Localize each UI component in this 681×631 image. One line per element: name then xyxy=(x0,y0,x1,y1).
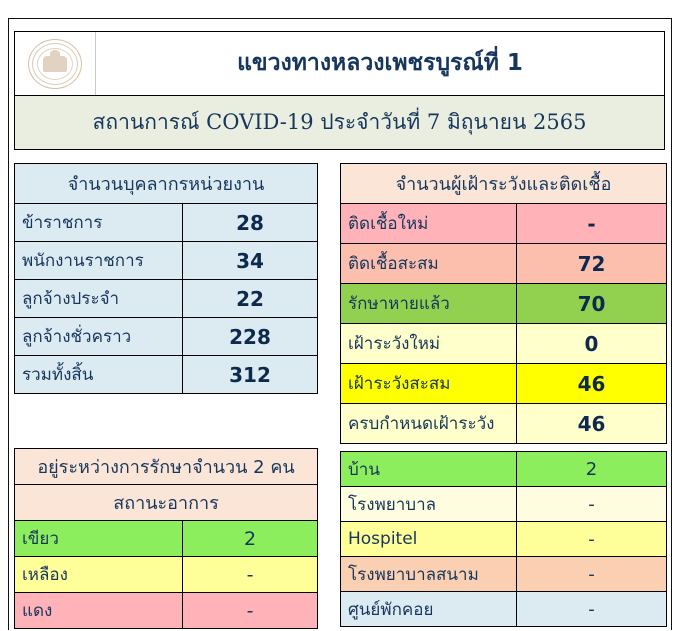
row-value: - xyxy=(183,557,318,593)
row-value: - xyxy=(517,522,667,557)
row-label: แดง xyxy=(15,593,183,629)
row-label: ลูกจ้างชั่วคราว xyxy=(15,318,183,356)
title-row: แขวงทางหลวงเพชรบูรณ์ที่ 1 xyxy=(15,32,664,96)
report-subtitle: สถานการณ์ COVID-19 ประจำวันที่ 7 มิถุนาย… xyxy=(15,96,664,149)
table-row: ติดเชื้อใหม่ - xyxy=(341,204,667,244)
page-title: แขวงทางหลวงเพชรบูรณ์ที่ 1 xyxy=(96,32,664,95)
cases-table-header: จำนวนผู้เฝ้าระวังและติดเชื้อ xyxy=(341,164,667,204)
row-value: 2 xyxy=(517,452,667,487)
row-value: 72 xyxy=(517,244,667,284)
table-row-total: รวมทั้งสิ้น 312 xyxy=(15,356,318,394)
table-row: เหลือง - xyxy=(15,557,318,593)
row-value: - xyxy=(517,592,667,627)
table-row: โรงพยาบาล - xyxy=(341,487,667,522)
table-header-row: จำนวนบุคลากรหน่วยงาน xyxy=(15,164,318,204)
row-label: เฝ้าระวังใหม่ xyxy=(341,324,517,364)
staff-count-table: จำนวนบุคลากรหน่วยงาน ข้าราชการ 28 พนักงา… xyxy=(14,163,318,394)
row-label: รักษาหายแล้ว xyxy=(341,284,517,324)
row-value: 34 xyxy=(183,242,318,280)
row-label: ลูกจ้างประจำ xyxy=(15,280,183,318)
row-value: 22 xyxy=(183,280,318,318)
surveillance-and-infection-table: จำนวนผู้เฝ้าระวังและติดเชื้อ ติดเชื้อใหม… xyxy=(340,163,667,444)
report-header: แขวงทางหลวงเพชรบูรณ์ที่ 1 สถานการณ์ COVI… xyxy=(14,31,665,150)
row-label: เหลือง xyxy=(15,557,183,593)
treating-table-subheader: สถานะอาการ xyxy=(15,485,318,521)
table-row: เขียว 2 xyxy=(15,521,318,557)
table-row: ข้าราชการ 28 xyxy=(15,204,318,242)
table-row: แดง - xyxy=(15,593,318,629)
row-value: 312 xyxy=(183,356,318,394)
row-value: 228 xyxy=(183,318,318,356)
row-value: - xyxy=(517,487,667,522)
row-label: โรงพยาบาล xyxy=(341,487,517,522)
row-label: ข้าราชการ xyxy=(15,204,183,242)
row-value: 0 xyxy=(517,324,667,364)
row-value: - xyxy=(517,557,667,592)
table-row: ติดเชื้อสะสม 72 xyxy=(341,244,667,284)
row-value: 70 xyxy=(517,284,667,324)
row-label: ติดเชื้อใหม่ xyxy=(341,204,517,244)
treating-table-header: อยู่ระหว่างการรักษาจำนวน 2 คน xyxy=(15,449,318,485)
row-value: - xyxy=(517,204,667,244)
table-row: บ้าน 2 xyxy=(341,452,667,487)
logo-cell xyxy=(15,32,96,95)
table-row: พนักงานราชการ 34 xyxy=(15,242,318,280)
table-row: รักษาหายแล้ว 70 xyxy=(341,284,667,324)
row-label: เฝ้าระวังสะสม xyxy=(341,364,517,404)
treatment-location-table: บ้าน 2 โรงพยาบาล - Hospitel - โรงพยาบาลส… xyxy=(340,451,667,627)
row-value: - xyxy=(183,593,318,629)
table-row: ครบกำหนดเฝ้าระวัง 46 xyxy=(341,404,667,444)
table-row: ลูกจ้างประจำ 22 xyxy=(15,280,318,318)
staff-table-header: จำนวนบุคลากรหน่วยงาน xyxy=(15,164,318,204)
row-label: พนักงานราชการ xyxy=(15,242,183,280)
row-label: Hospitel xyxy=(341,522,517,557)
row-label: บ้าน xyxy=(341,452,517,487)
table-subheader-row: สถานะอาการ xyxy=(15,485,318,521)
row-value: 28 xyxy=(183,204,318,242)
row-label: ศูนย์พักคอย xyxy=(341,592,517,627)
highways-department-seal-icon xyxy=(28,37,82,91)
row-value: 46 xyxy=(517,364,667,404)
row-label: โรงพยาบาลสนาม xyxy=(341,557,517,592)
row-label: ติดเชื้อสะสม xyxy=(341,244,517,284)
row-value: 2 xyxy=(183,521,318,557)
table-row: เฝ้าระวังใหม่ 0 xyxy=(341,324,667,364)
under-treatment-status-table: อยู่ระหว่างการรักษาจำนวน 2 คน สถานะอาการ… xyxy=(14,448,318,629)
row-label: เขียว xyxy=(15,521,183,557)
table-header-row: จำนวนผู้เฝ้าระวังและติดเชื้อ xyxy=(341,164,667,204)
row-value: 46 xyxy=(517,404,667,444)
row-label: ครบกำหนดเฝ้าระวัง xyxy=(341,404,517,444)
table-row: ศูนย์พักคอย - xyxy=(341,592,667,627)
table-row: เฝ้าระวังสะสม 46 xyxy=(341,364,667,404)
row-label: รวมทั้งสิ้น xyxy=(15,356,183,394)
table-row: ลูกจ้างชั่วคราว 228 xyxy=(15,318,318,356)
table-row: โรงพยาบาลสนาม - xyxy=(341,557,667,592)
table-header-row: อยู่ระหว่างการรักษาจำนวน 2 คน xyxy=(15,449,318,485)
table-row: Hospitel - xyxy=(341,522,667,557)
